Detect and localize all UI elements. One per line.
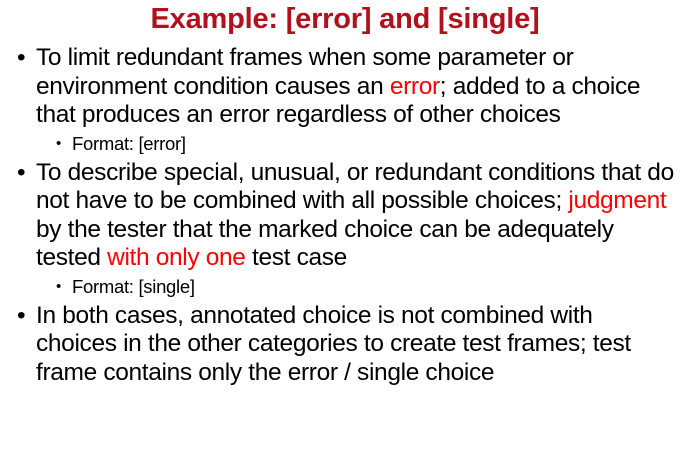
page-title: Example: [error] and [single] [0,2,690,36]
bullet-error-description: •To limit redundant frames when some par… [0,44,690,130]
slide-body: •To limit redundant frames when some par… [0,44,690,389]
bullet-dot-icon: • [17,302,25,331]
bullet-dot-icon: • [17,159,25,188]
body-text: Format: [error] [72,133,186,154]
highlighted-text: error [390,73,440,100]
highlighted-text: with only one [107,244,245,271]
bullet-single-description: •To describe special, unusual, or redund… [0,159,690,273]
body-text: In both cases, annotated choice is not c… [36,302,631,386]
body-text: Format: [single] [72,276,195,297]
subbullet-format-single: •Format: [single] [0,275,690,299]
body-text: test case [246,244,347,271]
bullet-dot-icon: • [17,44,25,73]
bullet-both-cases: •In both cases, annotated choice is not … [0,302,690,388]
highlighted-text: judgment [568,187,666,214]
bullet-dot-icon: • [56,275,61,299]
bullet-dot-icon: • [56,132,61,156]
slide-canvas: Example: [error] and [single] •To limit … [0,0,690,465]
subbullet-format-error: •Format: [error] [0,132,690,156]
